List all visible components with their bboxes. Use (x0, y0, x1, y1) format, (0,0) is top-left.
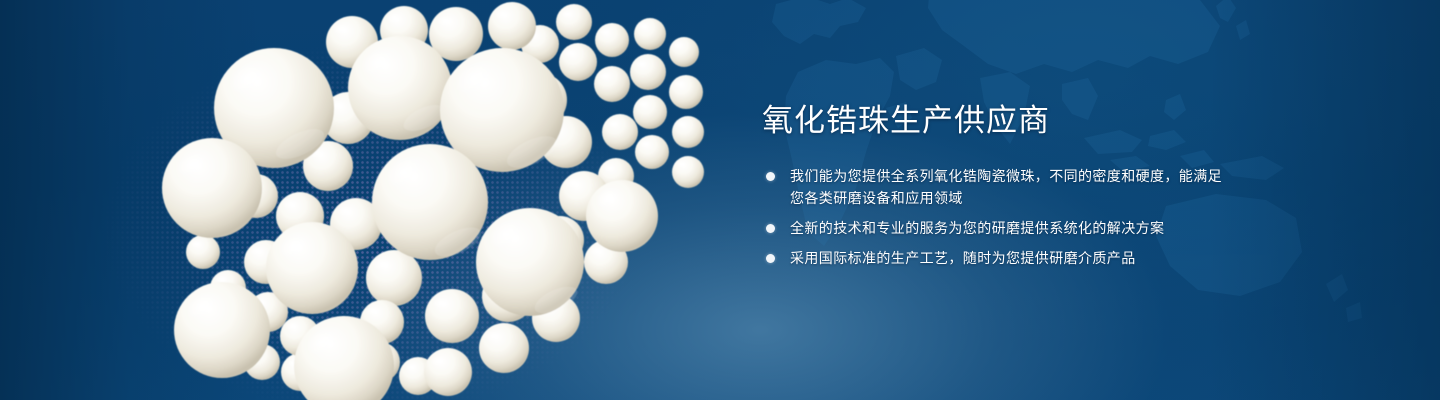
list-item-label: 采用国际标准的生产工艺，随时为您提供研磨介质产品 (790, 247, 1232, 269)
bullet-dot-icon (766, 224, 775, 233)
banner-copy: 氧化锆珠生产供应商 我们能为您提供全系列氧化锆陶瓷微珠，不同的密度和硬度，能满足… (762, 100, 1232, 269)
list-item-label: 我们能为您提供全系列氧化锆陶瓷微珠，不同的密度和硬度，能满足您各类研磨设备和应用… (790, 165, 1232, 209)
feature-list: 我们能为您提供全系列氧化锆陶瓷微珠，不同的密度和硬度，能满足您各类研磨设备和应用… (762, 165, 1232, 269)
bullet-dot-icon (766, 254, 775, 263)
list-item: 我们能为您提供全系列氧化锆陶瓷微珠，不同的密度和硬度，能满足您各类研磨设备和应用… (762, 165, 1232, 209)
list-item: 全新的技术和专业的服务为您的研磨提供系统化的解决方案 (762, 217, 1232, 239)
hero-banner: 氧化锆珠生产供应商 我们能为您提供全系列氧化锆陶瓷微珠，不同的密度和硬度，能满足… (0, 0, 1440, 400)
list-item-label: 全新的技术和专业的服务为您的研磨提供系统化的解决方案 (790, 217, 1232, 239)
bullet-dot-icon (766, 172, 775, 181)
list-item: 采用国际标准的生产工艺，随时为您提供研磨介质产品 (762, 247, 1232, 269)
page-title: 氧化锆珠生产供应商 (762, 100, 1232, 142)
